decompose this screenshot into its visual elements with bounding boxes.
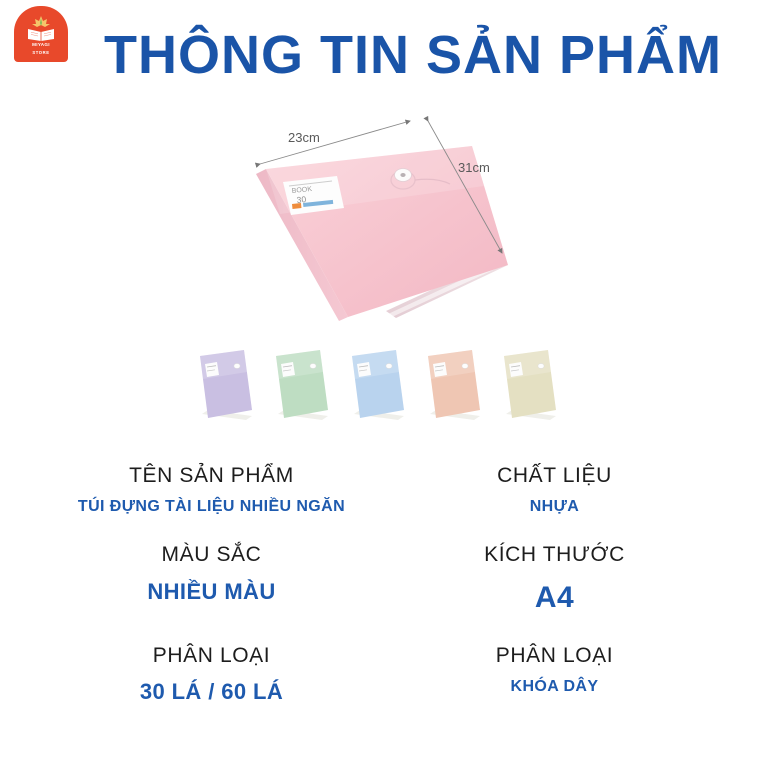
- color-swatch-purple: [200, 350, 252, 420]
- color-swatch-blue: [352, 350, 404, 420]
- page-title: THÔNG TIN SẢN PHẨM: [104, 26, 704, 85]
- color-swatch-peach: [428, 350, 480, 420]
- dimension-annotations: [236, 118, 536, 328]
- spec-label: MÀU SẮC: [40, 541, 383, 569]
- spec-label: TÊN SẢN PHẨM: [40, 462, 383, 490]
- spec-value: A4: [383, 575, 726, 620]
- brand-logo: MIYAGI STORE: [14, 6, 68, 62]
- spec-value: KHÓA DÂY: [383, 675, 726, 699]
- spec-cell-classification-closure: PHÂN LOẠI KHÓA DÂY: [383, 642, 726, 708]
- book-icon: [27, 28, 55, 41]
- spec-cell-color: MÀU SẮC NHIỀU MÀU: [40, 541, 383, 619]
- spec-label: PHÂN LOẠI: [383, 642, 726, 670]
- spec-label: PHÂN LOẠI: [40, 642, 383, 670]
- product-info-graphic: MIYAGI STORE THÔNG TIN SẢN PHẨM: [0, 0, 766, 766]
- spec-cell-product-name: TÊN SẢN PHẨM TÚI ĐỰNG TÀI LIỆU NHIỀU NGĂ…: [40, 462, 383, 519]
- height-dimension-label: 31cm: [458, 160, 490, 175]
- logo-brand-line1: MIYAGI: [14, 42, 68, 47]
- specifications-grid: TÊN SẢN PHẨM TÚI ĐỰNG TÀI LIỆU NHIỀU NGĂ…: [40, 462, 726, 708]
- spec-cell-classification-sheets: PHÂN LOẠI 30 LÁ / 60 LÁ: [40, 642, 383, 708]
- color-swatch-green: [276, 350, 328, 420]
- spec-cell-material: CHẤT LIỆU NHỰA: [383, 462, 726, 519]
- color-swatch-cream: [504, 350, 556, 420]
- spec-label: KÍCH THƯỚC: [383, 541, 726, 569]
- spec-value: 30 LÁ / 60 LÁ: [40, 675, 383, 708]
- spec-value: NHIỀU MÀU: [40, 575, 383, 608]
- logo-brand-line2: STORE: [14, 50, 68, 55]
- spec-cell-size: KÍCH THƯỚC A4: [383, 541, 726, 619]
- spec-value: NHỰA: [383, 495, 726, 519]
- spec-value: TÚI ĐỰNG TÀI LIỆU NHIỀU NGĂN: [40, 495, 383, 519]
- spec-label: CHẤT LIỆU: [383, 462, 726, 490]
- width-dimension-label: 23cm: [288, 130, 320, 145]
- color-variant-row: [190, 342, 580, 428]
